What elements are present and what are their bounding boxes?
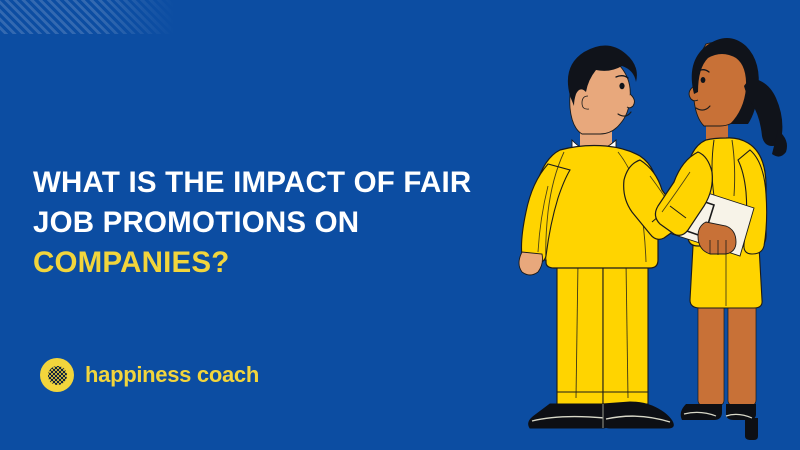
- page-title: WHAT IS THE IMPACT OF FAIR JOB PROMOTION…: [33, 163, 503, 283]
- headline-line-3: COMPANIES?: [33, 243, 503, 283]
- sunflower-icon: [40, 358, 74, 392]
- banner-canvas: WHAT IS THE IMPACT OF FAIR JOB PROMOTION…: [0, 0, 800, 450]
- brand-logo-text: happiness coach: [85, 362, 259, 388]
- headline-line-1: WHAT IS THE IMPACT OF FAIR: [33, 163, 503, 203]
- headline-line-2: JOB PROMOTIONS ON: [33, 203, 503, 243]
- handshake-illustration: [500, 0, 800, 450]
- sunflower-core-icon: [48, 366, 67, 385]
- brand-logo[interactable]: happiness coach: [40, 358, 259, 392]
- diagonal-stripes-pattern-icon: [0, 0, 176, 34]
- man-figure: [519, 45, 681, 428]
- woman-figure: [655, 38, 787, 440]
